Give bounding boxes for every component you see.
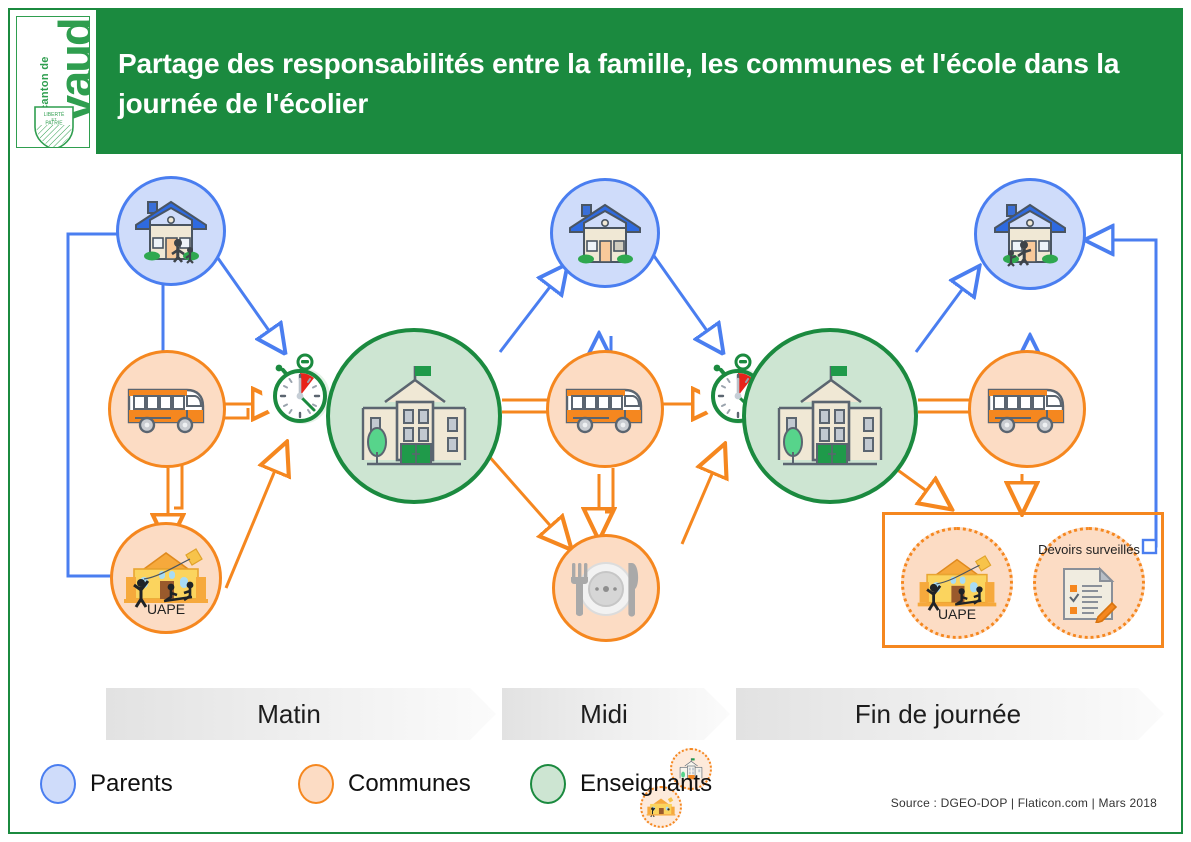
house-icon [991, 201, 1069, 267]
diagram-canvas: UAPE [10, 156, 1181, 832]
source-credit: Source : DGEO-DOP | Flaticon.com | Mars … [891, 796, 1157, 810]
legend-item-enseignants: Enseignants [530, 764, 712, 804]
node-homework-label: Devoirs surveillés [1036, 542, 1142, 558]
house-icon [566, 201, 644, 265]
timeline-label-midi: Midi [580, 699, 628, 730]
uape-icon [915, 554, 999, 612]
legend-label-parents: Parents [90, 770, 173, 798]
meal-icon [566, 555, 646, 621]
node-school-midday[interactable] [742, 328, 918, 504]
bus-icon [985, 382, 1069, 436]
timeline-segment-matin[interactable]: Matin [106, 688, 496, 740]
bus-icon [563, 382, 647, 436]
legend-label-communes: Communes [348, 770, 471, 798]
canton-vaud-logo: canton de vaud LIBERTÉ ET PATRIE [10, 10, 96, 154]
node-uape-evening-label: UAPE [904, 606, 1010, 622]
legend-swatch-parents [40, 764, 76, 804]
school-icon [349, 360, 479, 472]
house-icon [132, 198, 210, 264]
infographic-page: canton de vaud LIBERTÉ ET PATRIE Partage… [0, 0, 1191, 842]
logo-inner-frame: canton de vaud LIBERTÉ ET PATRIE [16, 16, 90, 148]
node-meal-midday[interactable] [552, 534, 660, 642]
node-uape-morning[interactable]: UAPE [110, 522, 222, 634]
timeline-segment-midi[interactable]: Midi [502, 688, 730, 740]
node-home-morning[interactable] [116, 176, 226, 286]
node-bus-evening[interactable] [968, 350, 1086, 468]
legend-label-enseignants: Enseignants [580, 770, 712, 798]
end-of-day-group: UAPE Devoirs surveillés [882, 512, 1164, 648]
node-uape-evening[interactable]: UAPE [901, 527, 1013, 639]
node-school-morning[interactable] [326, 328, 502, 504]
page-title: Partage des responsabilités entre la fam… [118, 44, 1138, 124]
node-bus-midday[interactable] [546, 350, 664, 468]
legend-swatch-enseignants [530, 764, 566, 804]
timeline-label-matin: Matin [257, 699, 321, 730]
node-homework-evening[interactable]: Devoirs surveillés [1033, 527, 1145, 639]
node-home-midday[interactable] [550, 178, 660, 288]
timeline-label-fin-de-journee: Fin de journée [855, 699, 1021, 730]
checklist-icon [1058, 565, 1120, 623]
header-banner: canton de vaud LIBERTÉ ET PATRIE Partage… [10, 10, 1181, 154]
legend-item-parents: Parents [40, 764, 173, 804]
shield-patrie-text: PATRIE [45, 121, 63, 127]
school-icon [765, 360, 895, 472]
node-uape-morning-label: UAPE [113, 601, 219, 617]
uape-icon [122, 547, 210, 609]
bus-icon [125, 382, 209, 436]
node-home-evening[interactable] [974, 178, 1086, 290]
legend-item-communes: Communes [298, 764, 471, 804]
node-bus-morning[interactable] [108, 350, 226, 468]
timeline-segment-fin-de-journee[interactable]: Fin de journée [736, 688, 1164, 740]
shield-icon: LIBERTÉ ET PATRIE [33, 105, 75, 148]
legend-swatch-communes [298, 764, 334, 804]
